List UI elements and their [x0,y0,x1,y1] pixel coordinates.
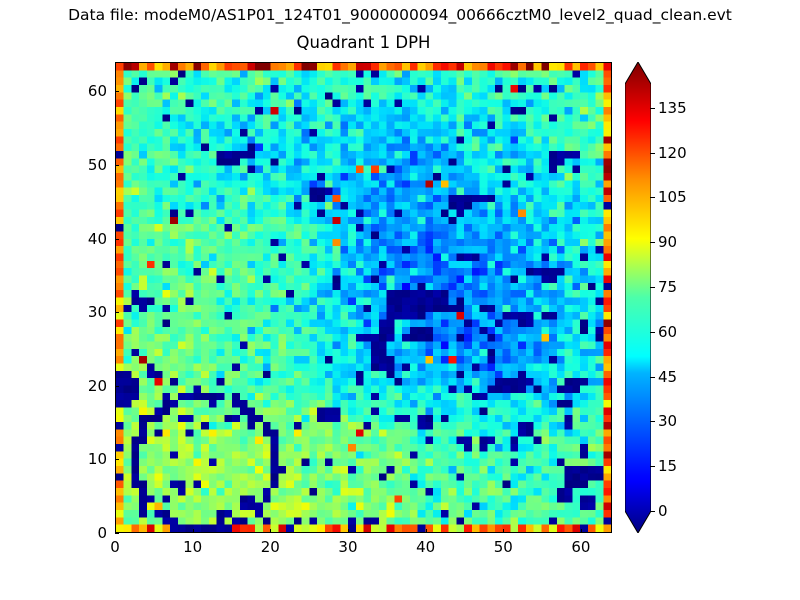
x-tick-mark [348,529,349,533]
colorbar-tick-label: 60 [658,323,677,341]
colorbar-tick-mark [650,332,655,333]
y-tick-mark [115,91,119,92]
y-tick-mark [115,386,119,387]
y-tick-label: 50 [75,156,107,174]
x-tick-label: 20 [261,538,280,556]
colorbar-gradient [625,62,651,533]
colorbar-tick-label: 30 [658,412,677,430]
colorbar-tick-label: 75 [658,278,677,296]
x-tick-mark [270,529,271,533]
heatmap-axes [115,62,612,533]
colorbar-tick-label: 90 [658,233,677,251]
colorbar-tick-mark [650,287,655,288]
x-tick-mark [581,529,582,533]
x-tick-label: 60 [571,538,590,556]
x-tick-label: 30 [338,538,357,556]
y-tick-label: 30 [75,303,107,321]
colorbar-tick-label: 105 [658,188,687,206]
y-tick-label: 60 [75,82,107,100]
colorbar-tick-mark [650,511,655,512]
figure-canvas: Data file: modeM0/AS1P01_124T01_90000000… [0,0,800,600]
x-tick-label: 40 [416,538,435,556]
x-tick-label: 0 [110,538,120,556]
colorbar-tick-label: 15 [658,457,677,475]
colorbar-tick-mark [650,377,655,378]
x-tick-label: 10 [183,538,202,556]
colorbar-tick-label: 135 [658,99,687,117]
colorbar-tick-mark [650,108,655,109]
y-tick-label: 10 [75,450,107,468]
y-tick-label: 0 [75,524,107,542]
colorbar-tick-mark [650,466,655,467]
x-tick-mark [503,529,504,533]
x-tick-label: 50 [494,538,513,556]
y-tick-mark [115,239,119,240]
y-tick-label: 20 [75,377,107,395]
data-file-suptitle: Data file: modeM0/AS1P01_124T01_90000000… [0,6,800,24]
y-tick-mark [115,312,119,313]
x-tick-mark [426,529,427,533]
page-title: Quadrant 1 DPH [115,33,612,52]
colorbar-tick-label: 0 [658,502,668,520]
detector-heatmap-image [116,63,611,532]
colorbar-tick-label: 45 [658,368,677,386]
colorbar-tick-mark [650,242,655,243]
colorbar [625,62,651,533]
colorbar-tick-mark [650,421,655,422]
y-tick-mark [115,165,119,166]
colorbar-tick-label: 120 [658,144,687,162]
y-tick-label: 40 [75,230,107,248]
colorbar-tick-mark [650,153,655,154]
y-tick-mark [115,533,119,534]
y-tick-mark [115,459,119,460]
x-tick-mark [193,529,194,533]
colorbar-tick-mark [650,197,655,198]
